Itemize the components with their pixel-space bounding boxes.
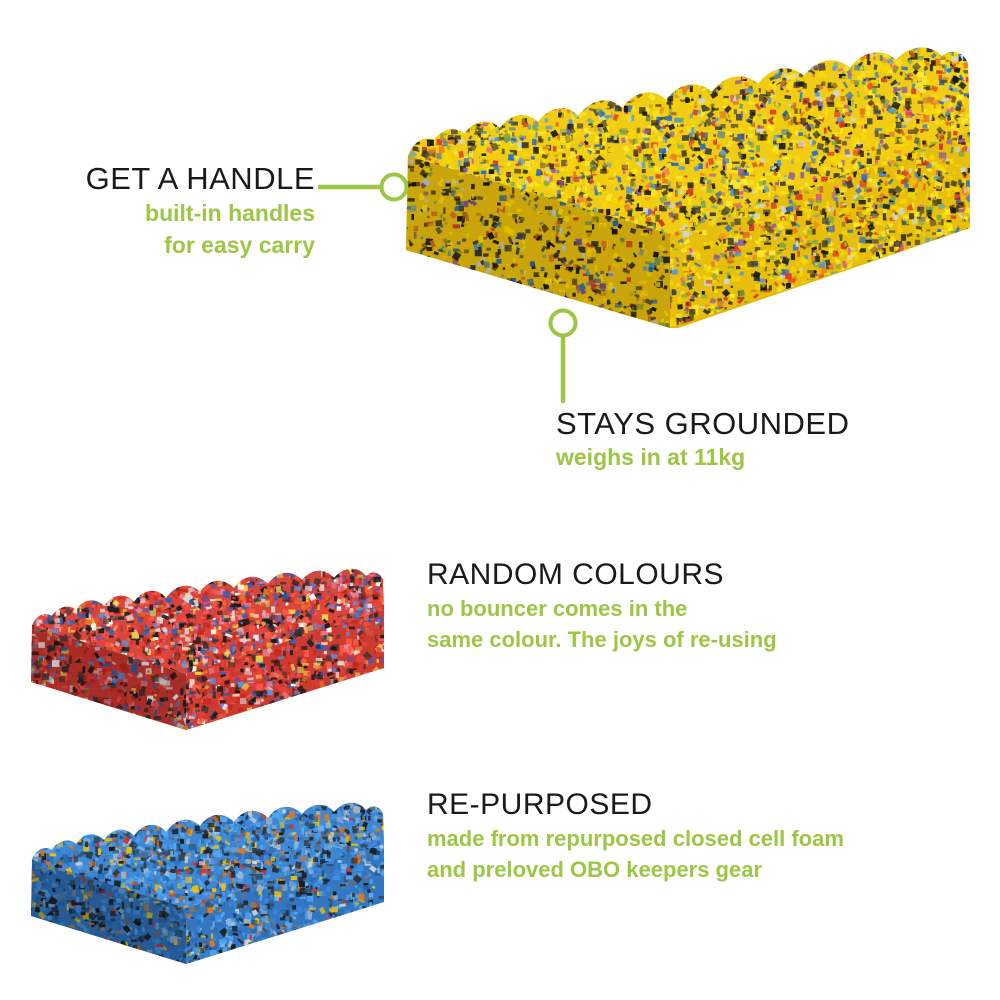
hero-brick-svg bbox=[378, 28, 988, 348]
callout-re-purposed: RE-PURPOSED made from repurposed closed … bbox=[427, 790, 844, 883]
callout-sub-line1-re-purposed: made from repurposed closed cell foam bbox=[427, 826, 844, 852]
callout-sub-line2-re-purposed: and preloved OBO keepers gear bbox=[427, 857, 844, 883]
connector-stays-grounded bbox=[545, 305, 583, 405]
callout-title-stays-grounded: STAYS GROUNDED bbox=[556, 408, 850, 440]
infographic-canvas: GET A HANDLE built-in handles for easy c… bbox=[0, 0, 1000, 1000]
callout-sub-line2-random-colours: same colour. The joys of re-using bbox=[427, 627, 777, 653]
blue-brick-svg bbox=[18, 782, 393, 967]
callout-stays-grounded: STAYS GROUNDED weighs in at 11kg bbox=[556, 408, 850, 471]
callout-title-random-colours: RANDOM COLOURS bbox=[427, 560, 777, 591]
callout-sub-line2-get-a-handle: for easy carry bbox=[40, 232, 315, 259]
connector-line-circle-icon bbox=[318, 172, 413, 202]
callout-random-colours: RANDOM COLOURS no bouncer comes in the s… bbox=[427, 560, 777, 653]
callout-sub-line1-get-a-handle: built-in handles bbox=[40, 200, 315, 227]
brick-image-hero-yellow bbox=[378, 28, 988, 348]
brick-image-blue bbox=[18, 782, 393, 967]
callout-title-get-a-handle: GET A HANDLE bbox=[40, 163, 315, 195]
connector-get-a-handle bbox=[318, 172, 413, 202]
callout-sub-line1-random-colours: no bouncer comes in the bbox=[427, 596, 777, 622]
connector-circle-line-icon bbox=[545, 305, 583, 405]
callout-title-re-purposed: RE-PURPOSED bbox=[427, 790, 844, 821]
callout-get-a-handle: GET A HANDLE built-in handles for easy c… bbox=[40, 163, 315, 259]
red-brick-svg bbox=[18, 548, 393, 733]
brick-image-red bbox=[18, 548, 393, 733]
callout-sub-line1-stays-grounded: weighs in at 11kg bbox=[556, 444, 850, 471]
